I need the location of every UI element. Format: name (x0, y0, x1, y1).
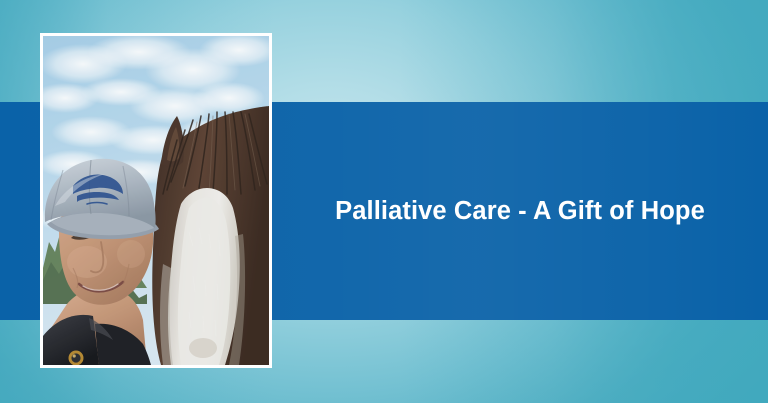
photo-card (40, 33, 272, 368)
photo-woman-with-horse (43, 36, 269, 365)
photo-artwork (43, 36, 269, 365)
page-title: Palliative Care - A Gift of Hope (325, 197, 715, 226)
headline-container: Palliative Care - A Gift of Hope (272, 102, 768, 320)
hero-banner: Palliative Care - A Gift of Hope (0, 0, 768, 403)
